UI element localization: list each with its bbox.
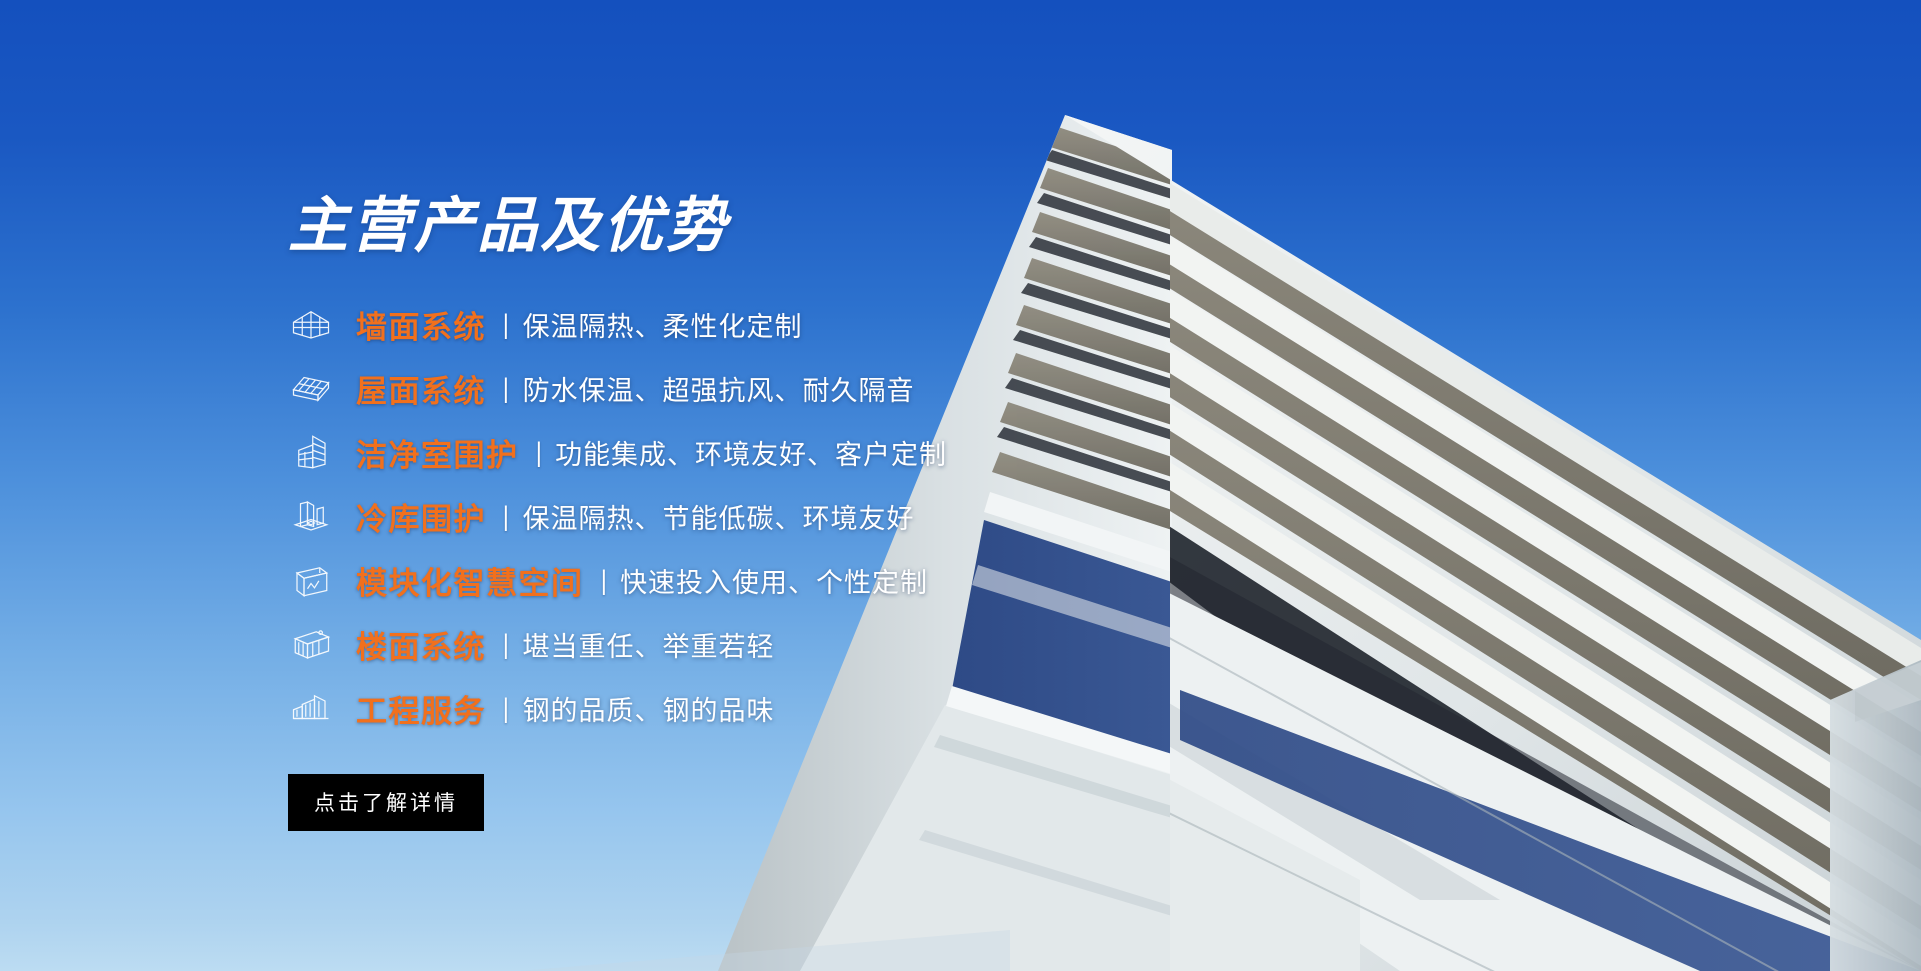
roof-panel-icon [288,365,334,411]
engineering-icon [288,685,334,731]
page-title: 主营产品及优势 [288,196,1148,256]
product-title: 工程服务 [356,686,486,731]
product-desc: 保温隔热、柔性化定制 [523,305,803,344]
separator-bar: | [504,309,508,340]
separator-bar: | [601,565,605,596]
floor-system-icon [288,621,334,667]
cleanroom-icon [288,429,334,475]
list-item[interactable]: 屋面系统 | 防水保温、超强抗风、耐久隔音 [288,356,1148,420]
product-title: 冷库围护 [356,494,486,539]
list-item[interactable]: 模块化智慧空间 | 快速投入使用、个性定制 [288,548,1148,612]
learn-more-button[interactable]: 点击了解详情 [288,774,484,831]
product-desc: 钢的品质、钢的品味 [523,689,775,728]
product-title: 墙面系统 [356,302,486,347]
wall-panel-icon [288,301,334,347]
banner-content: 主营产品及优势 墙面系统 | 保温隔热、柔性化定制 [288,196,1148,831]
product-advantage-banner: 主营产品及优势 墙面系统 | 保温隔热、柔性化定制 [0,0,1921,971]
list-item[interactable]: 工程服务 | 钢的品质、钢的品味 [288,676,1148,740]
list-item[interactable]: 楼面系统 | 堪当重任、举重若轻 [288,612,1148,676]
product-list: 墙面系统 | 保温隔热、柔性化定制 屋面系统 [288,292,1148,740]
product-desc: 保温隔热、节能低碳、环境友好 [523,497,915,536]
product-desc: 防水保温、超强抗风、耐久隔音 [523,369,915,408]
product-title: 楼面系统 [356,622,486,667]
product-title: 洁净室围护 [356,430,519,475]
adjacent-building [1830,660,1921,971]
list-item[interactable]: 洁净室围护 | 功能集成、环境友好、客户定制 [288,420,1148,484]
product-desc: 功能集成、环境友好、客户定制 [555,433,947,472]
product-title: 屋面系统 [356,366,486,411]
product-desc: 快速投入使用、个性定制 [620,561,928,600]
cold-storage-icon [288,493,334,539]
product-title: 模块化智慧空间 [356,558,584,603]
separator-bar: | [504,373,508,404]
separator-bar: | [504,693,508,724]
separator-bar: | [504,501,508,532]
modular-space-icon [288,557,334,603]
separator-bar: | [504,629,508,660]
product-desc: 堪当重任、举重若轻 [523,625,775,664]
list-item[interactable]: 冷库围护 | 保温隔热、节能低碳、环境友好 [288,484,1148,548]
separator-bar: | [536,437,540,468]
list-item[interactable]: 墙面系统 | 保温隔热、柔性化定制 [288,292,1148,356]
